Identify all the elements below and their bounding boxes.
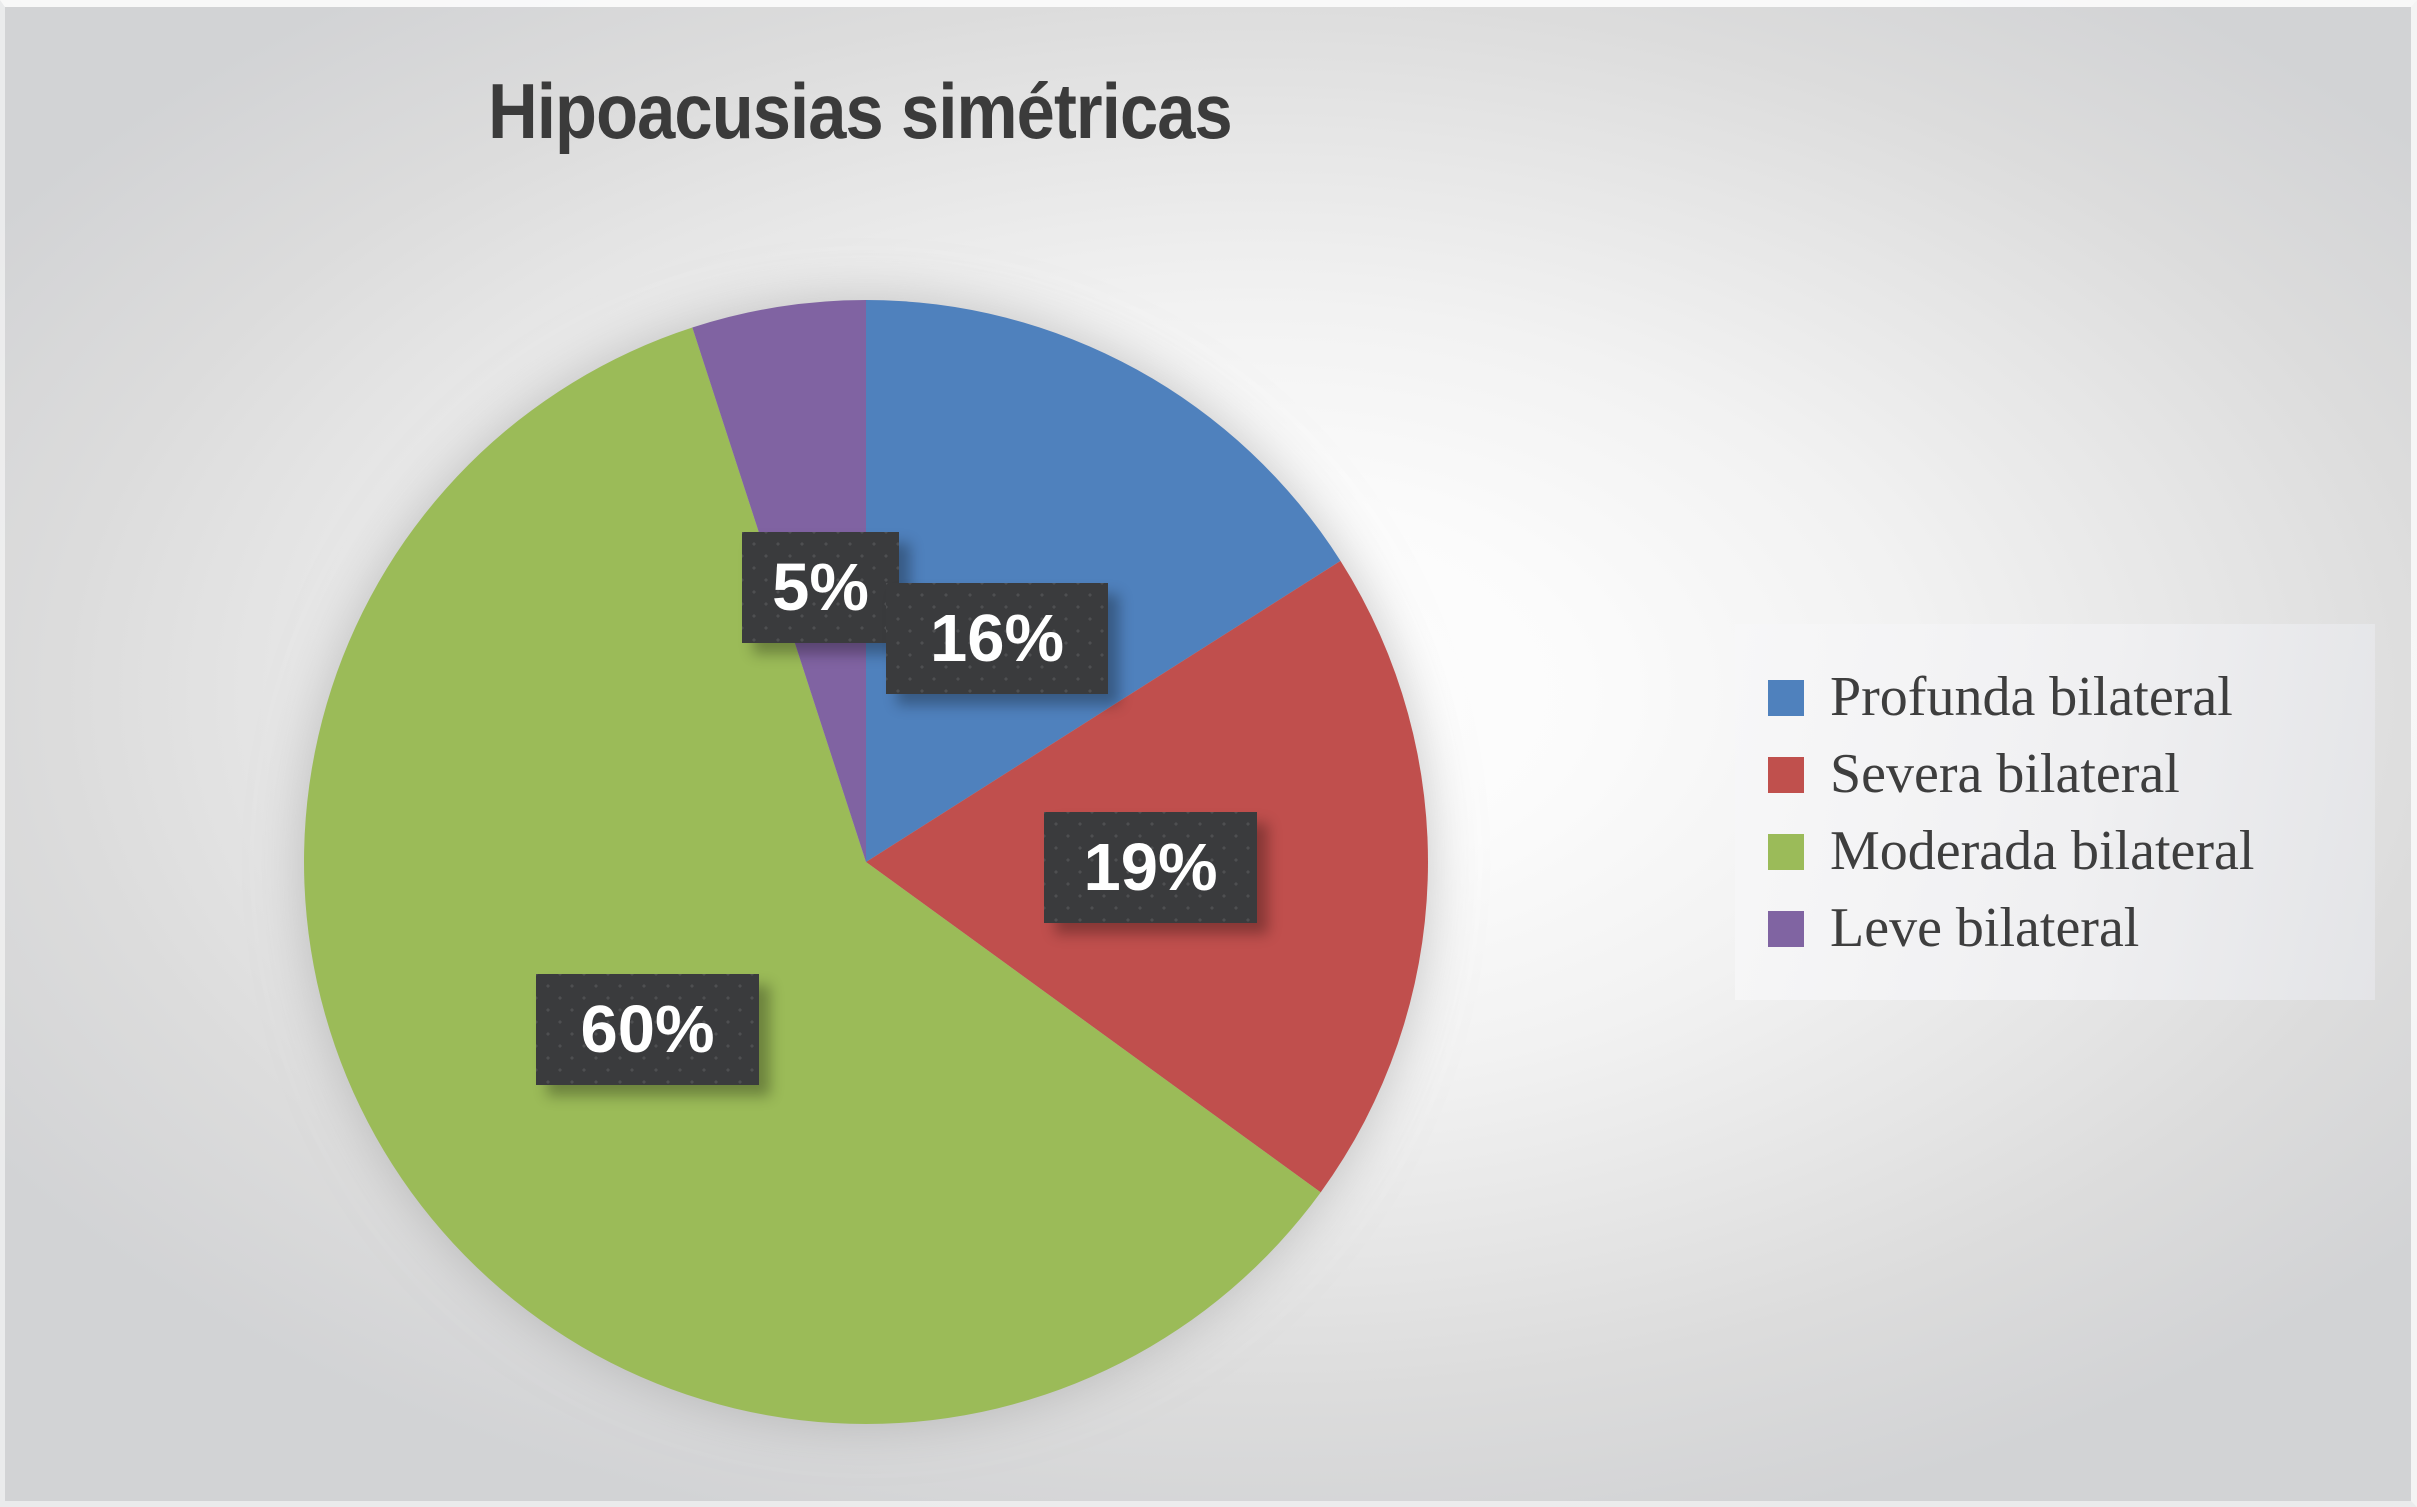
data-label-moderada-bilateral: 60% (536, 974, 759, 1085)
chart-legend: Profunda bilateral Severa bilateral Mode… (1735, 624, 2375, 1000)
data-label-severa-text: 19% (1083, 834, 1217, 901)
legend-swatch-icon-moderada (1768, 834, 1804, 870)
data-label-profunda-bilateral: 16% (886, 583, 1108, 694)
legend-label-severa: Severa bilateral (1830, 746, 2180, 802)
legend-item-moderada-bilateral[interactable]: Moderada bilateral (1735, 812, 2375, 889)
legend-label-leve: Leve bilateral (1830, 900, 2139, 956)
legend-swatch-icon-leve (1768, 911, 1804, 947)
legend-item-profunda-bilateral[interactable]: Profunda bilateral (1735, 658, 2375, 735)
legend-label-profunda: Profunda bilateral (1830, 669, 2233, 725)
data-label-leve-bilateral: 5% (742, 532, 899, 643)
chart-title: Hipoacusias simétricas (103, 66, 1617, 157)
slide-canvas: Hipoacusias simétricas 5% 16% (0, 0, 2417, 1507)
pie-slices-group (304, 300, 1428, 1424)
legend-label-moderada: Moderada bilateral (1830, 823, 2254, 879)
legend-item-severa-bilateral[interactable]: Severa bilateral (1735, 735, 2375, 812)
data-label-leve-text: 5% (772, 554, 869, 621)
legend-item-leve-bilateral[interactable]: Leve bilateral (1735, 889, 2375, 966)
legend-swatch-icon-profunda (1768, 680, 1804, 716)
data-label-profunda-text: 16% (930, 605, 1064, 672)
data-label-severa-bilateral: 19% (1044, 812, 1257, 923)
data-label-moderada-text: 60% (580, 996, 714, 1063)
legend-swatch-icon-severa (1768, 757, 1804, 793)
